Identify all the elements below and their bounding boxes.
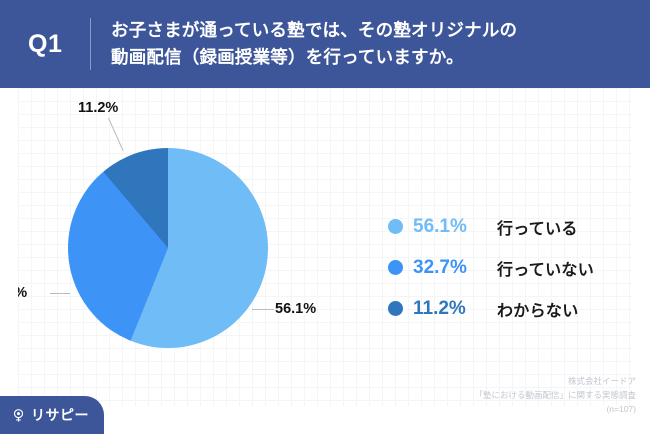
chart-panel: 56.1% 32.7% 11.2% 56.1% 行っている 32.7% 行ってい… [18, 88, 632, 406]
pie-label-1: 32.7% [18, 285, 27, 301]
pie-label-2: 11.2% [78, 100, 118, 116]
legend-item-0: 56.1% 行っている [388, 206, 594, 247]
legend-swatch-icon [388, 301, 403, 316]
magnifier-pin-icon [11, 408, 26, 423]
pie-disc [68, 148, 268, 348]
legend-item-2: 11.2% わからない [388, 288, 594, 329]
source-survey: 「塾における動画配信」に関する実態調査 [474, 388, 636, 402]
source-sample-size: (n=107) [474, 402, 636, 416]
pie-label-0: 56.1% [275, 301, 316, 317]
legend-percent: 32.7% [413, 257, 497, 279]
question-text: お子さまが通っている塾では、その塾オリジナルの 動画配信（録画授業等）を行ってい… [111, 17, 517, 71]
source-company: 株式会社イードア [474, 374, 636, 388]
legend-swatch-icon [388, 260, 403, 275]
legend-label: 行っていない [497, 256, 594, 280]
leader-line-c [108, 118, 124, 151]
legend-item-1: 32.7% 行っていない [388, 247, 594, 288]
brand-logo: リサピー [0, 396, 104, 434]
brand-logo-text: リサピー [31, 405, 89, 425]
question-header: Q1 お子さまが通っている塾では、その塾オリジナルの 動画配信（録画授業等）を行… [0, 0, 650, 88]
chart-legend: 56.1% 行っている 32.7% 行っていない 11.2% わからない [388, 206, 594, 329]
legend-label: 行っている [497, 215, 578, 239]
pie-chart: 56.1% 32.7% 11.2% [68, 148, 268, 348]
header-divider [90, 18, 91, 70]
legend-label: わからない [497, 297, 579, 321]
legend-swatch-icon [388, 219, 403, 234]
legend-percent: 56.1% [413, 216, 497, 238]
question-number: Q1 [28, 30, 90, 59]
leader-line-b [50, 293, 70, 294]
legend-percent: 11.2% [413, 298, 497, 320]
source-attribution: 株式会社イードア 「塾における動画配信」に関する実態調査 (n=107) [474, 374, 636, 416]
leader-line-a [252, 309, 274, 310]
